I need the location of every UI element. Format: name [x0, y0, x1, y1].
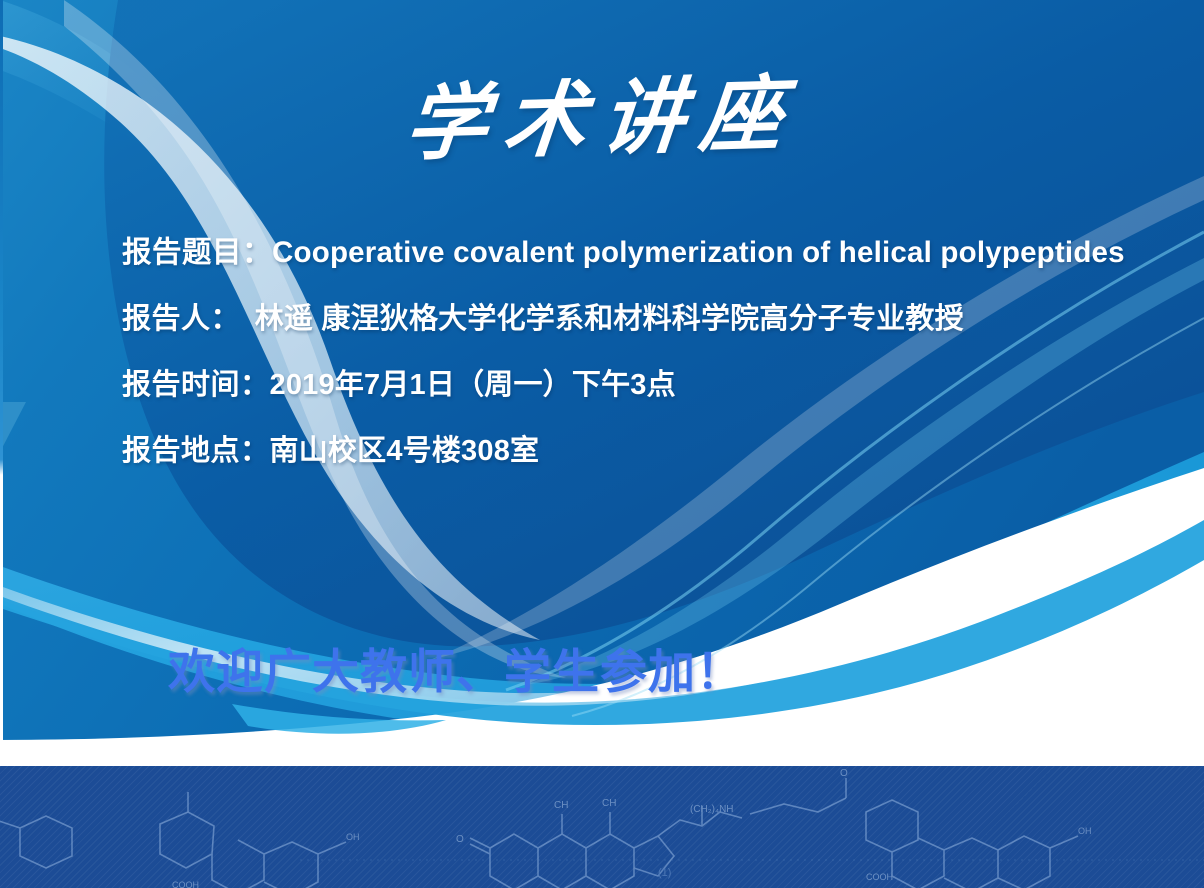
- footer-band: CH CH O (CH₂)₄NH O: [0, 766, 1204, 888]
- info-value-speaker: 林遥 康涅狄格大学化学系和材料科学院高分子专业教授: [226, 303, 964, 335]
- info-label-speaker: 报告人：: [122, 303, 226, 335]
- svg-text:COOH: COOH: [172, 880, 199, 888]
- svg-text:OH: OH: [1078, 826, 1092, 836]
- page-title: 学术讲座: [0, 61, 1204, 177]
- svg-text:(CH₂)₄NH: (CH₂)₄NH: [690, 804, 734, 815]
- chemical-structure-artwork: CH CH O (CH₂)₄NH O: [0, 766, 1204, 888]
- info-value-topic: Cooperative covalent polymerization of h…: [272, 236, 1125, 269]
- info-label-topic: 报告题目：: [122, 236, 272, 269]
- svg-text:COOH: COOH: [866, 872, 893, 882]
- info-row-speaker: 报告人： 林遥 康涅狄格大学化学系和材料科学院高分子专业教授: [122, 305, 1192, 334]
- seminar-poster: 学术讲座 报告题目：Cooperative covalent polymeriz…: [0, 0, 1204, 888]
- svg-text:O: O: [456, 834, 464, 845]
- svg-text:CH: CH: [602, 798, 616, 809]
- info-row-time: 报告时间：2019年7月1日（周一）下午3点: [122, 371, 1192, 400]
- info-block: 报告题目：Cooperative covalent polymerization…: [122, 238, 1192, 503]
- svg-text:O: O: [840, 768, 848, 779]
- left-edge-accent: [0, 0, 3, 766]
- welcome-message: 欢迎广大教师、学生参加！: [168, 648, 744, 695]
- info-value-place: 南山校区4号楼308室: [270, 435, 540, 467]
- info-row-topic: 报告题目：Cooperative covalent polymerization…: [122, 238, 1192, 268]
- info-label-place: 报告地点：: [122, 435, 270, 467]
- svg-text:CH: CH: [554, 800, 568, 811]
- info-value-time: 2019年7月1日（周一）下午3点: [270, 369, 676, 401]
- svg-text:OH: OH: [346, 832, 360, 842]
- info-label-time: 报告时间：: [122, 369, 270, 401]
- info-row-place: 报告地点：南山校区4号楼308室: [122, 437, 1192, 466]
- molecule-caption: (1): [658, 867, 671, 879]
